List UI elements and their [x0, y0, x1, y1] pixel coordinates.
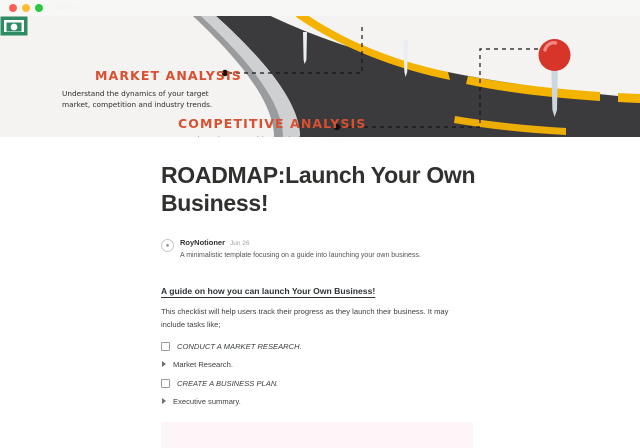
toggle-item[interactable]: Market Research. [161, 360, 481, 369]
toggle-item-label: Executive summary. [173, 397, 241, 406]
avatar-glyph: ● [166, 243, 170, 249]
page-content: ROADMAP:Launch Your Own Business! ● RoyN… [0, 137, 640, 448]
checklist-item[interactable]: CREATE A BUSINESS PLAN. [161, 379, 481, 388]
checkbox-icon[interactable] [161, 379, 170, 388]
map-pin-icon [303, 32, 307, 64]
hero-text-market-analysis: Understand the dynamics of your target m… [62, 88, 212, 111]
window-titlebar: Notion [0, 0, 640, 16]
chevron-right-icon[interactable] [162, 361, 166, 367]
avatar[interactable]: ● [161, 239, 174, 252]
hero-text-line: Understand the dynamics of your target [62, 88, 212, 99]
page-title: ROADMAP:Launch Your Own Business! [161, 161, 481, 217]
section-heading[interactable]: A guide on how you can launch Your Own B… [161, 286, 481, 296]
hero-banner: MARKET ANALYSIS Understand the dynamics … [0, 16, 640, 137]
checklist-item-label: CREATE A BUSINESS PLAN. [177, 379, 278, 388]
hero-text-line: market, competition and industry trends. [62, 99, 212, 110]
publish-date: Jun 26 [230, 240, 250, 247]
close-button[interactable] [9, 4, 17, 12]
author-name[interactable]: RoyNotioner [180, 238, 225, 247]
window-title: Notion [56, 5, 78, 12]
checklist-item[interactable]: CONDUCT A MARKET RESEARCH. [161, 342, 481, 351]
hero-label-competitive-analysis: COMPETITIVE ANALYSIS [178, 116, 366, 131]
intro-paragraph: This checklist will help users track the… [161, 306, 471, 332]
byline: ● RoyNotioner Jun 26 A minimalistic temp… [161, 238, 481, 259]
callout-block[interactable] [161, 422, 473, 448]
checkbox-icon[interactable] [161, 342, 170, 351]
toggle-item-label: Market Research. [173, 360, 233, 369]
page-subtitle: A minimalistic template focusing on a gu… [180, 252, 421, 259]
checklist-item-label: CONDUCT A MARKET RESEARCH. [177, 342, 302, 351]
chevron-right-icon[interactable] [162, 398, 166, 404]
zoom-button[interactable] [35, 4, 43, 12]
toggle-item[interactable]: Executive summary. [161, 397, 481, 406]
money-icon [0, 16, 28, 36]
minimize-button[interactable] [22, 4, 30, 12]
hero-label-market-analysis: MARKET ANALYSIS [95, 68, 242, 83]
